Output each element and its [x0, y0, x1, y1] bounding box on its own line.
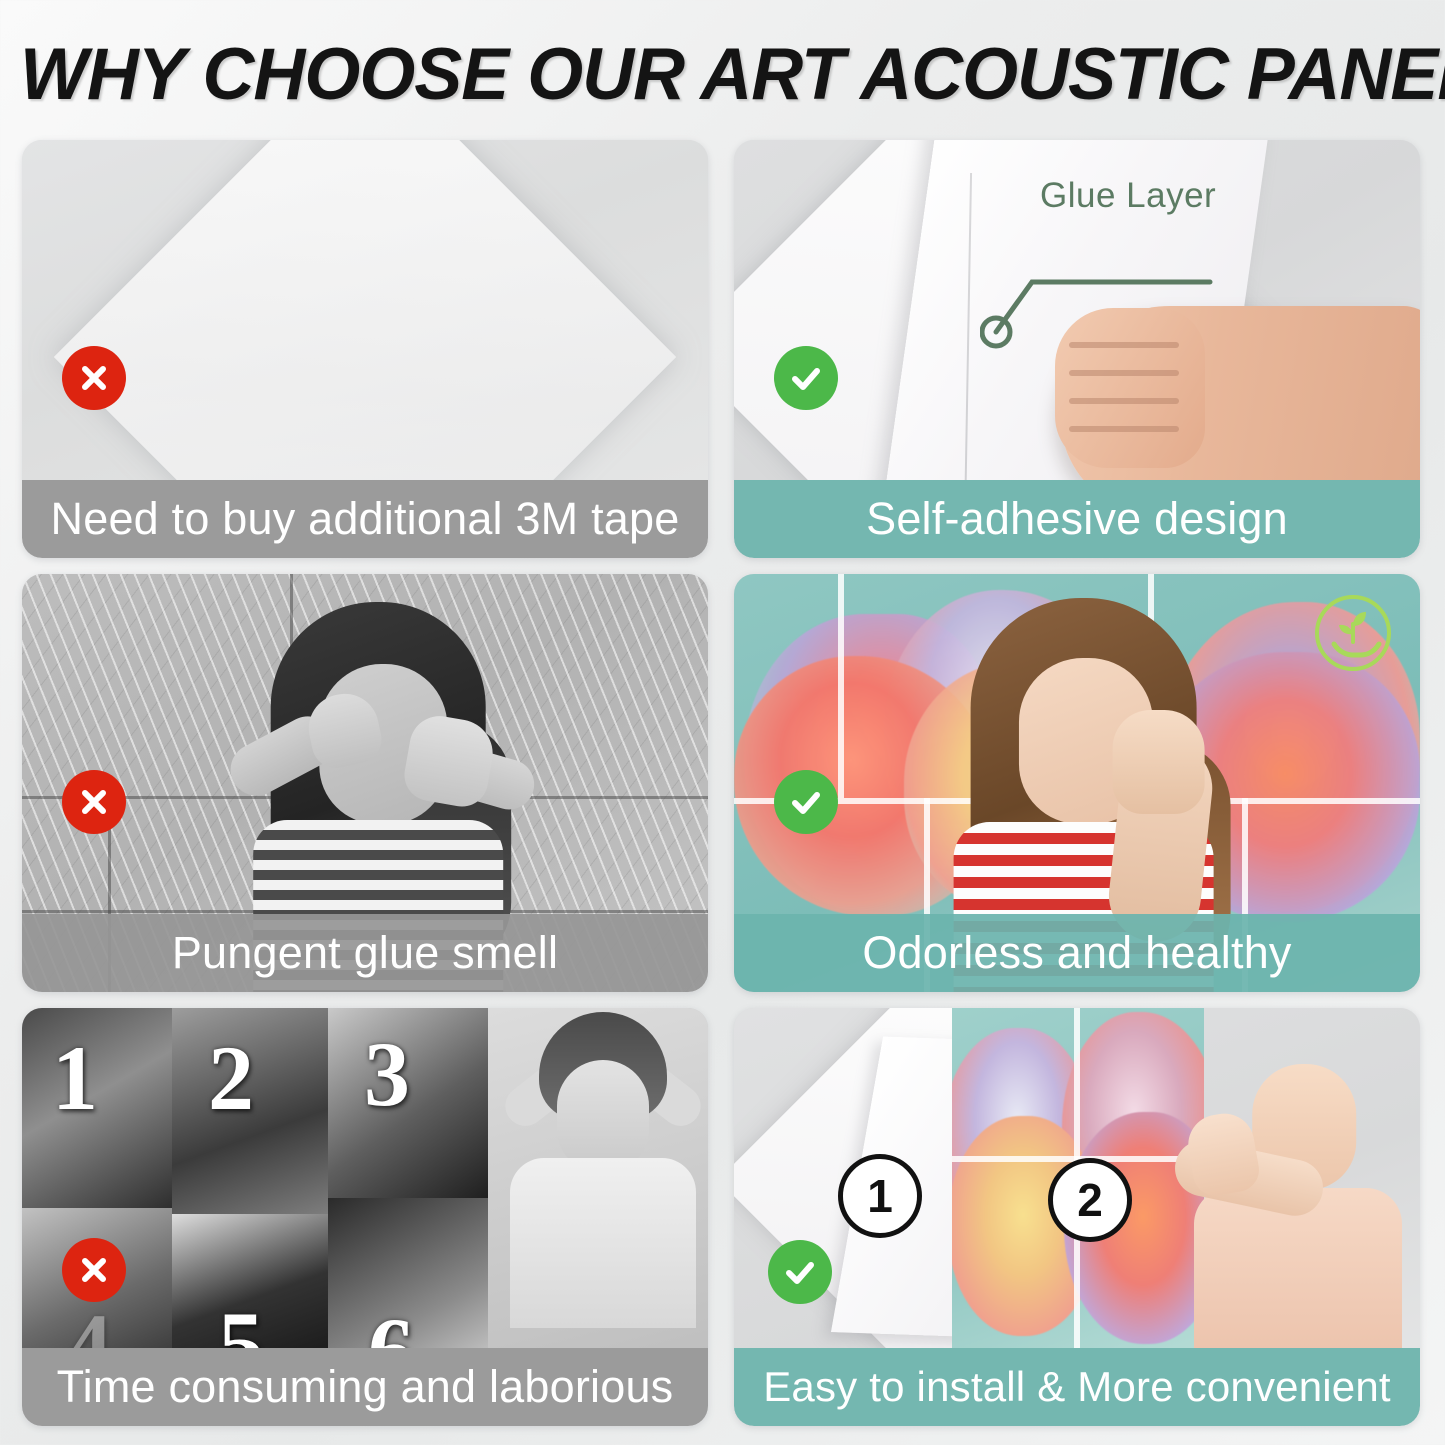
cross-icon	[62, 346, 126, 410]
panel-seam	[838, 574, 844, 798]
step-number-badge-2: 2	[1048, 1158, 1132, 1242]
eco-plant-in-hand-icon	[1312, 592, 1394, 674]
step-number: 3	[364, 1028, 410, 1120]
check-icon	[768, 1240, 832, 1304]
page-title: WHY CHOOSE OUR ART ACOUSTIC PANELS?	[20, 36, 1409, 114]
panel-caption: Easy to install & More convenient	[734, 1348, 1420, 1426]
cross-icon	[62, 770, 126, 834]
glue-layer-label: Glue Layer	[1040, 176, 1216, 216]
fist-image	[1055, 308, 1205, 468]
panel-time-consuming: 1 2 3 4 5 6 Time consuming and laborious	[22, 1008, 708, 1426]
frustrated-woman-image	[498, 1008, 708, 1348]
panel-easy-install: 1 2 Easy to install & More convenient	[734, 1008, 1420, 1426]
step-number: 2	[208, 1032, 254, 1124]
step-number-badge-1: 1	[838, 1154, 922, 1238]
cross-icon	[62, 1238, 126, 1302]
woman-thumbs-up-image	[1180, 1018, 1416, 1348]
panel-glue-smell: Pungent glue smell	[22, 574, 708, 992]
panel-tape-required: Need to buy additional 3M tape	[22, 140, 708, 558]
panel-caption: Pungent glue smell	[22, 914, 708, 992]
panel-caption: Need to buy additional 3M tape	[22, 480, 708, 558]
check-icon	[774, 346, 838, 410]
check-icon	[774, 770, 838, 834]
step-number: 1	[52, 1032, 98, 1124]
panel-grid: Need to buy additional 3M tape Glue Laye…	[22, 140, 1420, 1428]
panel-self-adhesive: Glue Layer Self-adhesive design	[734, 140, 1420, 558]
panel-caption: Self-adhesive design	[734, 480, 1420, 558]
panel-caption: Odorless and healthy	[734, 914, 1420, 992]
panel-odorless: Odorless and healthy	[734, 574, 1420, 992]
panel-caption: Time consuming and laborious	[22, 1348, 708, 1426]
infographic-stage: WHY CHOOSE OUR ART ACOUSTIC PANELS? Need…	[0, 0, 1445, 1445]
